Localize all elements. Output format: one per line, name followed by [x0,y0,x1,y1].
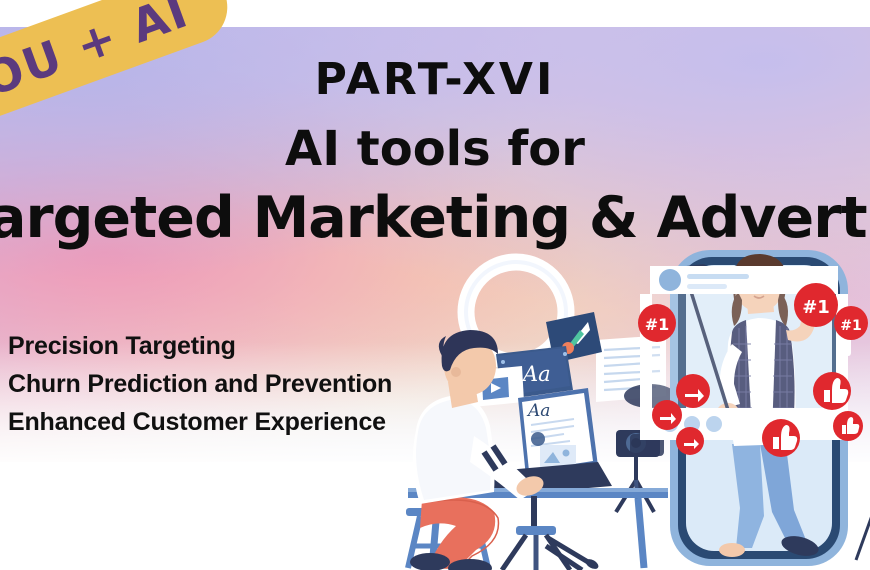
badge-number-one: #1 [638,304,676,342]
svg-text:#1: #1 [802,297,830,318]
svg-text:#1: #1 [840,318,861,334]
badge-thumbs-up [813,372,851,410]
badge-thumbs-up [833,411,863,441]
badge-share-arrow [676,374,710,408]
subtitle-line: AI tools for [0,125,870,173]
list-item: Enhanced Customer Experience [8,403,392,441]
svg-text:Aa: Aa [526,401,550,421]
influencer-phone-illustration: #1 #1 #1 [640,248,870,570]
list-item: Churn Prediction and Prevention [8,365,392,403]
badge-number-one: #1 [834,306,868,340]
slide-canvas: Aa Aa [0,0,870,570]
badge-thumbs-up [762,419,800,457]
bullet-list: Precision Targeting Churn Prediction and… [8,327,392,441]
badge-number-one: #1 [794,283,838,327]
svg-text:#1: #1 [645,315,670,334]
badge-share-arrow [652,400,682,430]
badge-share-arrow [676,427,704,455]
title-line: argeted Marketing & Advertising [0,190,788,247]
content-creator-illustration: Aa Aa [398,250,668,570]
post-dot [706,416,722,432]
svg-text:Aa: Aa [521,362,551,386]
list-item: Precision Targeting [8,327,392,365]
floor-tripod [502,496,600,570]
